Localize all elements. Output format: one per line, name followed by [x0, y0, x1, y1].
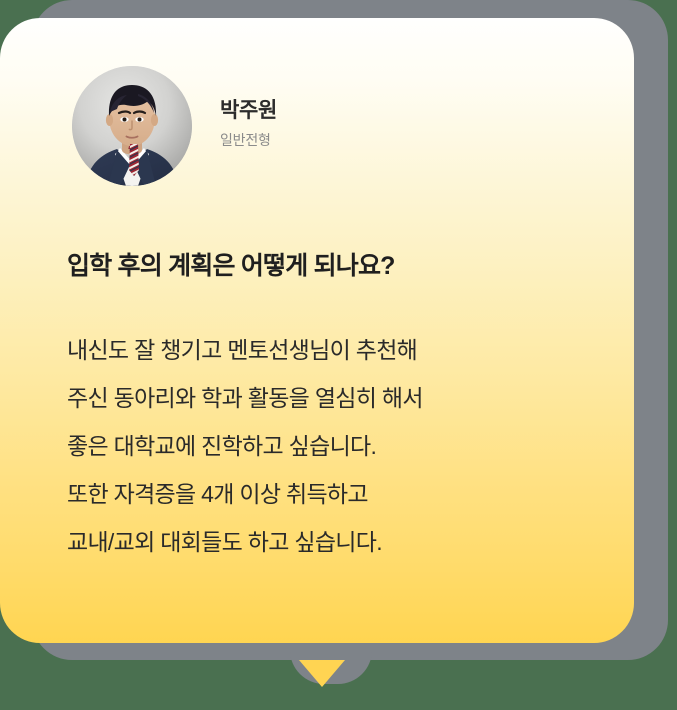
identity-block: 박주원 일반전형	[220, 97, 277, 154]
answer-text: 내신도 잘 챙기고 멘토선생님이 추천해 주신 동아리와 학과 활동을 열심히 …	[67, 326, 597, 566]
testimonial-card-stage: 박주원 일반전형 입학 후의 계획은 어떻게 되나요? 내신도 잘 챙기고 멘토…	[0, 0, 677, 710]
speech-bubble-tail	[299, 660, 345, 687]
answer-line: 좋은 대학교에 진학하고 싶습니다.	[67, 422, 597, 470]
avatar	[72, 66, 192, 186]
answer-line: 교내/교외 대회들도 하고 싶습니다.	[67, 518, 597, 566]
answer-line: 주신 동아리와 학과 활동을 열심히 해서	[67, 374, 597, 422]
speech-bubble: 박주원 일반전형 입학 후의 계획은 어떻게 되나요? 내신도 잘 챙기고 멘토…	[0, 18, 634, 643]
person-track: 일반전형	[220, 131, 277, 149]
answer-line: 또한 자격증을 4개 이상 취득하고	[67, 470, 597, 518]
question-text: 입학 후의 계획은 어떻게 되나요?	[67, 250, 587, 284]
answer-line: 내신도 잘 챙기고 멘토선생님이 추천해	[67, 326, 597, 374]
profile-header: 박주원 일반전형	[72, 66, 277, 186]
person-name: 박주원	[220, 97, 277, 124]
